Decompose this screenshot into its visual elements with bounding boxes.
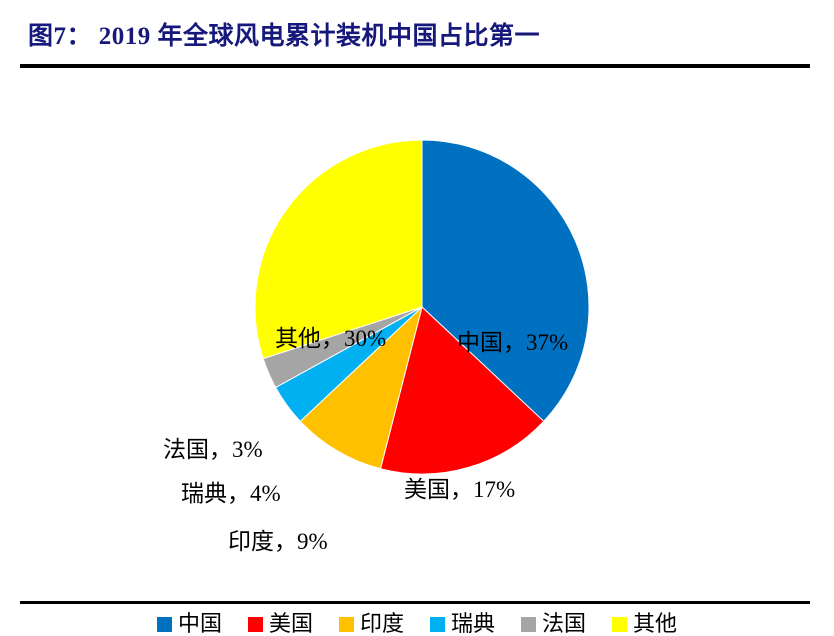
legend-swatch-icon: [339, 617, 354, 632]
data-label-france: 法国，3%: [163, 438, 263, 461]
data-label-india: 印度，9%: [228, 530, 328, 553]
data-label-usa: 美国，17%: [404, 478, 515, 501]
legend-swatch-icon: [157, 617, 172, 632]
legend-label: 瑞典: [451, 613, 495, 635]
legend-item[interactable]: 瑞典: [430, 613, 495, 635]
legend-label: 其他: [633, 613, 677, 635]
legend-item[interactable]: 印度: [339, 613, 404, 635]
data-label-china: 中国，37%: [457, 331, 568, 354]
figure-title: 图7： 2019 年全球风电累计装机中国占比第一: [28, 16, 540, 52]
legend-item[interactable]: 美国: [248, 613, 313, 635]
figure-divider-bottom: [20, 601, 810, 604]
title-divider-top: [20, 64, 810, 68]
legend-label: 印度: [360, 613, 404, 635]
legend-item[interactable]: 法国: [521, 613, 586, 635]
legend-swatch-icon: [248, 617, 263, 632]
legend-label: 中国: [178, 613, 222, 635]
legend-swatch-icon: [521, 617, 536, 632]
pie-chart-svg: [0, 75, 834, 595]
pie-slice-group: [255, 140, 589, 474]
figure-container: 图7： 2019 年全球风电累计装机中国占比第一 中国，37% 美国，17% 印…: [0, 0, 834, 613]
legend-swatch-icon: [430, 617, 445, 632]
legend-item[interactable]: 其他: [612, 613, 677, 635]
data-label-sweden: 瑞典，4%: [181, 482, 281, 505]
legend-label: 法国: [542, 613, 586, 635]
legend-swatch-icon: [612, 617, 627, 632]
chart-legend: 中国美国印度瑞典法国其他: [0, 613, 834, 635]
pie-chart-area: 中国，37% 美国，17% 印度，9% 瑞典，4% 法国，3% 其他，30% 中…: [0, 75, 834, 595]
legend-item[interactable]: 中国: [157, 613, 222, 635]
data-label-other: 其他，30%: [275, 327, 386, 350]
legend-label: 美国: [269, 613, 313, 635]
